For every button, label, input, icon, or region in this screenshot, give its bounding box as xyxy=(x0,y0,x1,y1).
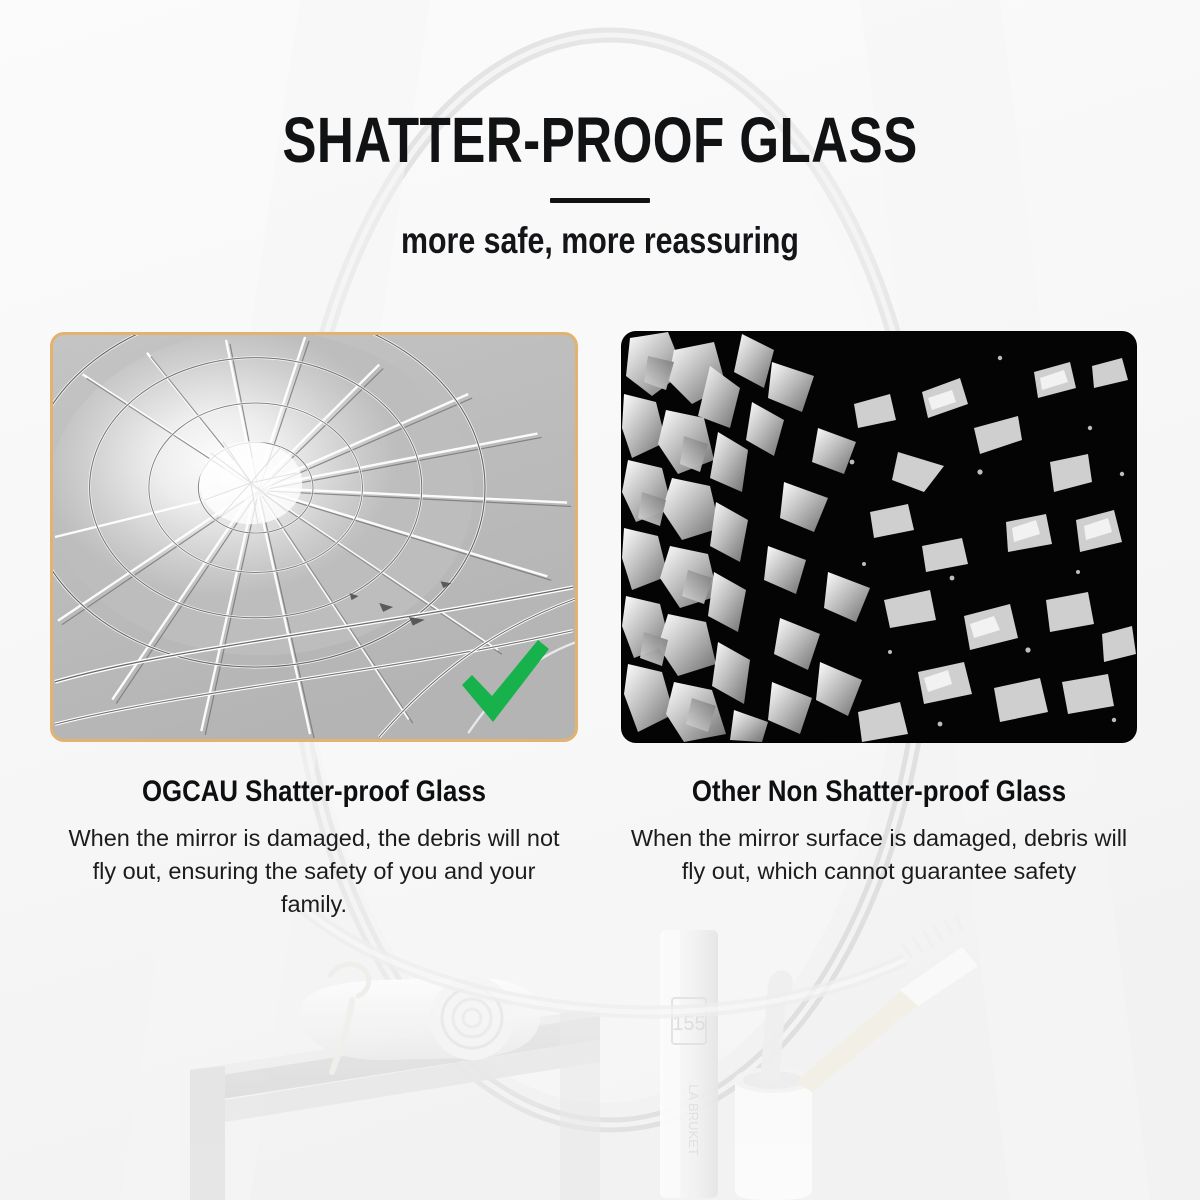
caption-right: Other Non Shatter-proof Glass When the m… xyxy=(622,776,1136,888)
comparison-panel-left xyxy=(50,332,578,742)
comparison-panel-right xyxy=(622,332,1136,742)
title-divider xyxy=(550,198,650,203)
caption-left: OGCAU Shatter-proof Glass When the mirro… xyxy=(50,776,578,922)
caption-right-heading: Other Non Shatter-proof Glass xyxy=(658,776,1100,808)
svg-text:LA BRUKET: LA BRUKET xyxy=(686,1084,701,1156)
caption-left-body: When the mirror is damaged, the debris w… xyxy=(62,822,567,922)
page-header: SHATTER-PROOF GLASS more safe, more reas… xyxy=(0,108,1200,259)
shatterproof-glass-photo xyxy=(50,332,578,742)
ordinary-glass-photo xyxy=(622,332,1136,742)
caption-right-body: When the mirror surface is damaged, debr… xyxy=(629,822,1129,889)
page-title: SHATTER-PROOF GLASS xyxy=(120,108,1080,172)
caption-left-heading: OGCAU Shatter-proof Glass xyxy=(87,776,541,808)
page-subtitle: more safe, more reassuring xyxy=(108,222,1092,259)
